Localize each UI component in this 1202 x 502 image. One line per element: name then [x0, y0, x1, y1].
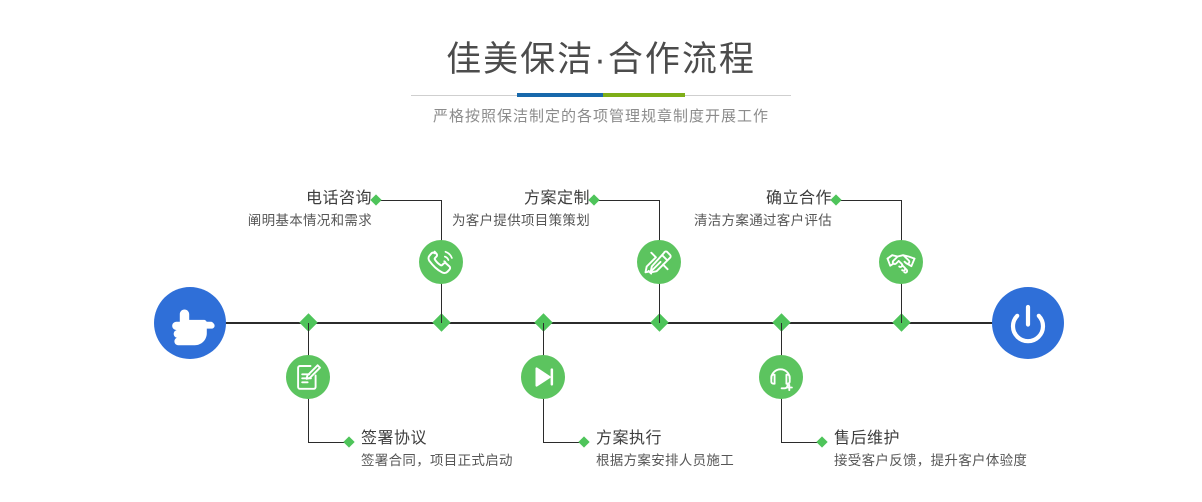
divider-segment-green [603, 93, 685, 97]
document-pencil-icon [286, 355, 330, 399]
step-icon-badge-establish-cooperation [879, 240, 923, 284]
pencil-ruler-icon [637, 240, 681, 284]
title-divider [411, 93, 791, 97]
divider-segment-blue [517, 93, 603, 97]
step-icon-badge-plan-custom [637, 240, 681, 284]
timeline-end-badge [992, 287, 1064, 359]
step-icon-badge-plan-execute [521, 355, 565, 399]
step-title: 售后维护 [834, 428, 1164, 450]
step-label-establish-cooperation: 确立合作 清洁方案通过客户评估 [572, 188, 842, 231]
step-icon-badge-sign-agreement [286, 355, 330, 399]
headset-add-icon [759, 355, 803, 399]
step-desc: 为客户提供项目策策划 [330, 210, 590, 231]
step-icon-badge-phone-consult [419, 240, 463, 284]
timeline-start-badge [154, 287, 226, 359]
play-skip-icon [521, 355, 565, 399]
connector-elbow [836, 200, 902, 201]
flow-diagram-page: 佳美保洁·合作流程 严格按照保洁制定的各项管理规章制度开展工作 [0, 0, 1202, 502]
phone-ring-icon [419, 240, 463, 284]
handshake-icon [879, 240, 923, 284]
step-desc: 接受客户反馈，提升客户体验度 [834, 450, 1164, 471]
power-button-icon [992, 287, 1064, 359]
page-title: 佳美保洁·合作流程 [0, 38, 1202, 82]
pointing-hand-icon [154, 287, 226, 359]
step-label-plan-custom: 方案定制 为客户提供项目策策划 [330, 188, 600, 231]
page-subtitle: 严格按照保洁制定的各项管理规章制度开展工作 [0, 104, 1202, 130]
step-desc: 清洁方案通过客户评估 [572, 210, 832, 231]
step-icon-badge-after-sales [759, 355, 803, 399]
step-title: 方案定制 [330, 188, 590, 210]
step-label-after-sales: 售后维护 接受客户反馈，提升客户体验度 [826, 428, 1164, 471]
step-title: 确立合作 [572, 188, 832, 210]
